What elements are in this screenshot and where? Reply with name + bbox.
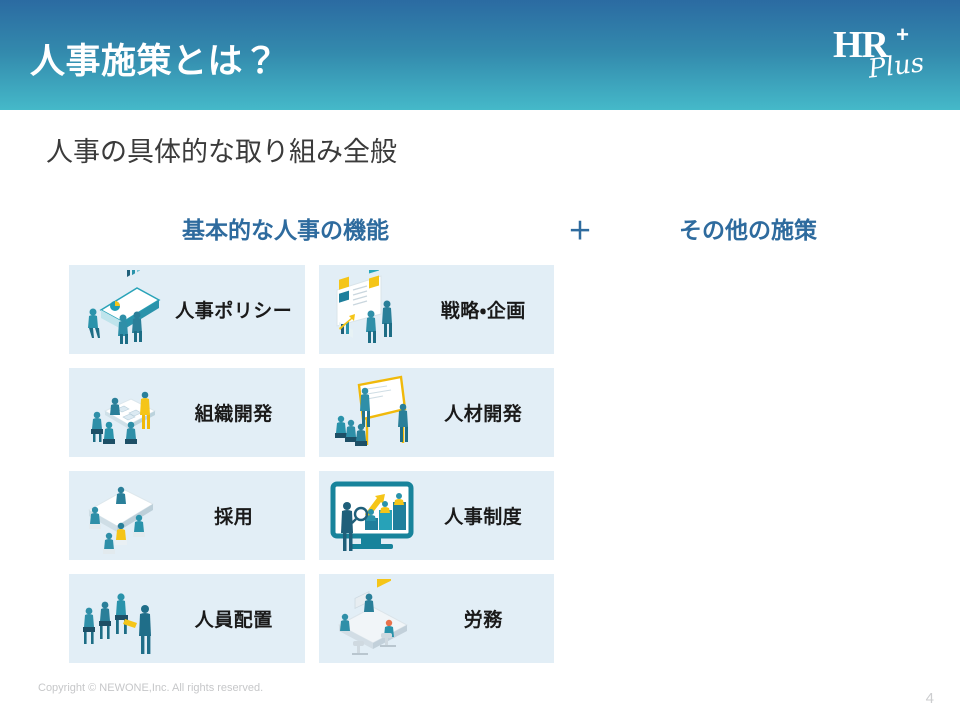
monitor-podium-growth-icon [325,476,421,556]
copyright-text: Copyright © NEWONE,Inc. All rights reser… [38,682,263,694]
page-title: 人事施策とは？ [30,33,279,84]
interview-table-icon [75,476,171,556]
card-strategy-planning[interactable]: 戦略・企画 [319,265,555,354]
card-hr-system[interactable]: 人事制度 [319,471,555,560]
left-column-heading: 基本的な人事の機能 [182,211,389,245]
card-row: 人員配置 [69,574,554,663]
team-meeting-table-icon [75,373,171,453]
presentation-board-icon [325,270,421,350]
card-label: 人事制度 [421,502,555,529]
subtitle: 人事の具体的な取り組み全般 [46,130,397,169]
hr-function-card-grid: 人事ポリシー [69,265,554,677]
card-row: 人事ポリシー [69,265,554,354]
card-talent-development[interactable]: 人材開発 [319,368,555,457]
logo-plus-symbol: + [896,24,909,46]
slide-header: 人事施策とは？ HR + Plus [0,0,960,110]
plus-operator: ＋ [568,211,592,246]
dashboard-chart-screen-icon [75,270,171,350]
office-desks-icon [325,579,421,659]
card-jinji-policy[interactable]: 人事ポリシー [69,265,305,354]
card-label: 採用 [171,502,305,529]
card-label: 人員配置 [171,605,305,632]
card-label: 人事ポリシー [171,296,305,323]
hr-plus-logo: HR + Plus [784,24,934,90]
page-number: 4 [926,690,934,707]
card-label: 戦略・企画 [421,296,555,323]
card-row: 採用 [69,471,554,560]
card-label: 労務 [421,605,555,632]
card-labor-management[interactable]: 労務 [319,574,555,663]
slide: 人事施策とは？ HR + Plus 人事の具体的な取り組み全般 基本的な人事の機… [0,0,960,720]
card-organization-development[interactable]: 組織開発 [69,368,305,457]
right-column-heading: その他の施策 [679,211,817,245]
logo-plus-word: Plus [867,50,926,83]
card-label: 組織開発 [171,399,305,426]
card-recruiting[interactable]: 採用 [69,471,305,560]
card-staff-placement[interactable]: 人員配置 [69,574,305,663]
people-seated-handover-icon [75,579,171,659]
card-label: 人材開発 [421,399,555,426]
card-row: 組織開発 [69,368,554,457]
training-whiteboard-icon [325,373,421,453]
